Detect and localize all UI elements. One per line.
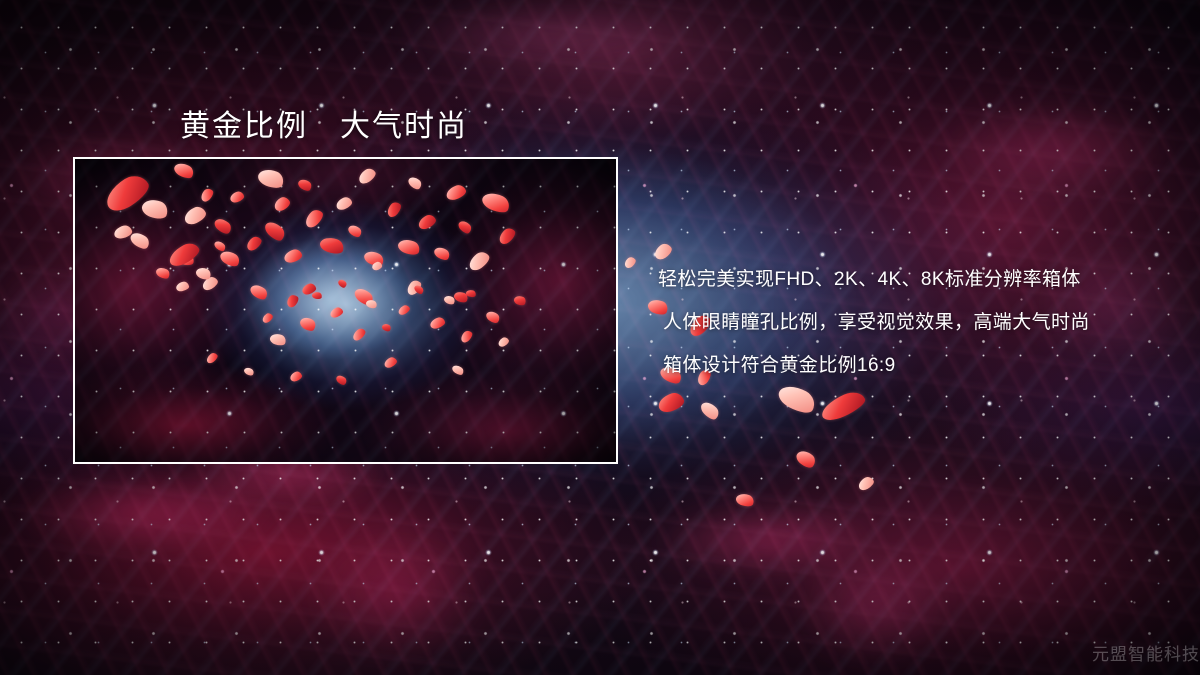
body-text-block: 轻松完美实现FHD、2K、4K、8K标准分辨率箱体 人体眼睛瞳孔比例，享受视觉效… (658, 258, 1178, 387)
body-line-2: 人体眼睛瞳孔比例，享受视觉效果，高端大气时尚 (658, 301, 1178, 344)
framed-image-panel (73, 157, 618, 464)
presentation-slide: 黄金比例 大气时尚 轻松完美实现FHD、2K、4K、8K标准分辨率箱体 人体眼睛… (0, 0, 1200, 675)
body-line-1: 轻松完美实现FHD、2K、4K、8K标准分辨率箱体 (658, 258, 1178, 301)
page-title: 黄金比例 大气时尚 (180, 101, 468, 145)
body-line-3: 箱体设计符合黄金比例16:9 (658, 344, 1178, 387)
watermark: 元盟智能科技 (1092, 640, 1200, 665)
